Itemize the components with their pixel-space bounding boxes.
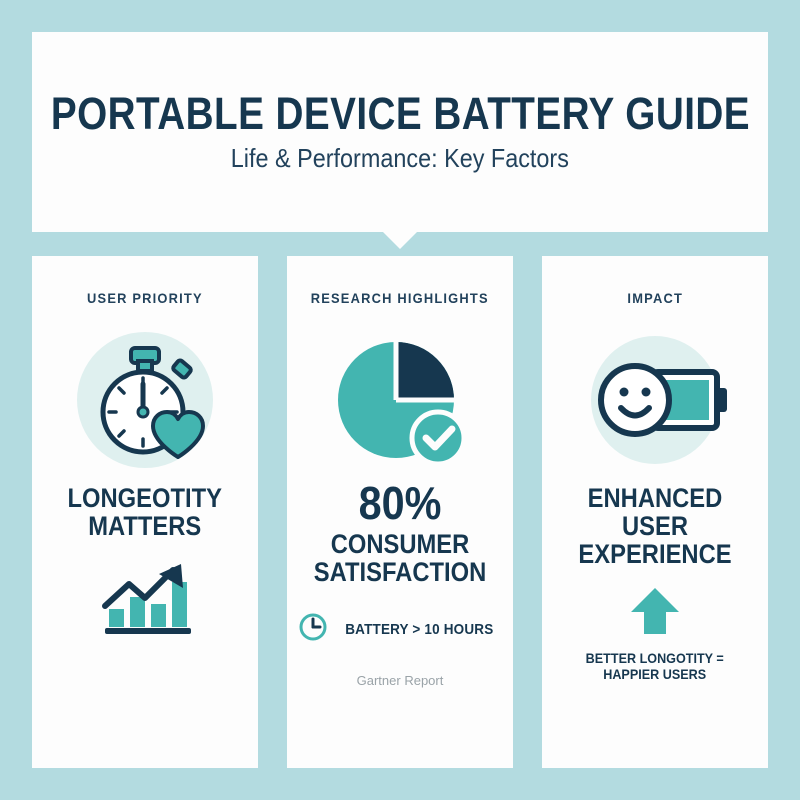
headline-line-2: EXPERIENCE [556,540,755,568]
impact-caption: BETTER LONGOTITY = HAPPIER USERS [586,650,724,682]
card-headline-impact: ENHANCED USER EXPERIENCE [556,484,755,568]
card-headline-research-highlights: CONSUMER SATISFACTION [314,530,486,586]
arrow-up-icon [627,586,683,636]
smiley-battery-icon [581,330,729,470]
header-panel: PORTABLE DEVICE BATTERY GUIDE Life & Per… [32,32,768,232]
page-title: PORTABLE DEVICE BATTERY GUIDE [50,90,749,137]
battery-duration-badge: BATTERY > 10 HOURS [298,612,502,647]
infographic-poster: PORTABLE DEVICE BATTERY GUIDE Life & Per… [0,0,800,800]
card-kicker-user-priority: USER PRIORITY [87,290,203,306]
card-impact[interactable]: IMPACT ENHANCED USER EXPERIENCE [542,256,768,768]
card-research-highlights[interactable]: RESEARCH HIGHLIGHTS 80% CONSUMER [287,256,513,768]
header-notch-arrow [383,232,417,249]
battery-duration-label: BATTERY > 10 HOURS [345,621,493,638]
card-user-priority[interactable]: USER PRIORITY [32,256,258,768]
stat-big-number: 80% [359,480,442,526]
pie-chart-check-icon [328,330,472,470]
caption-line-2: HAPPIER USERS [586,666,724,682]
source-label: Gartner Report [357,673,444,688]
headline-line-1: ENHANCED USER [556,484,755,540]
stopwatch-heart-icon [75,330,215,470]
clock-icon [298,612,328,647]
columns-container: USER PRIORITY [32,256,768,768]
headline-line-2: MATTERS [68,512,222,540]
card-headline-user-priority: LONGEOTITY MATTERS [68,484,222,540]
card-kicker-research-highlights: RESEARCH HIGHLIGHTS [311,290,489,306]
headline-line-2: SATISFACTION [314,558,486,586]
card-kicker-impact: IMPACT [627,290,683,306]
headline-line-1: CONSUMER [314,530,486,558]
bar-chart-growth-icon [97,558,193,636]
caption-line-1: BETTER LONGOTITY = [586,650,724,666]
headline-line-1: LONGEOTITY [68,484,222,512]
page-subtitle: Life & Performance: Key Factors [231,143,569,174]
